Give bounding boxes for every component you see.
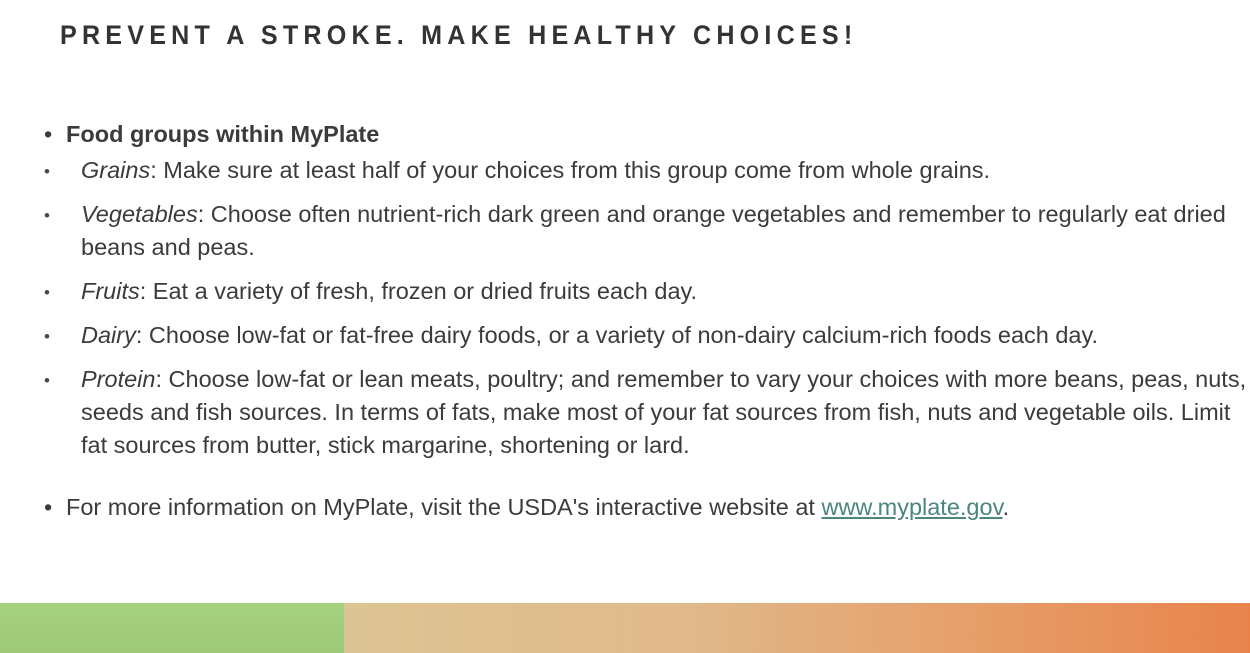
- list-item-text: Food groups within MyPlate: [66, 121, 379, 147]
- bullet-marker-icon: •: [44, 363, 50, 399]
- more-info-text: For more information on MyPlate, visit t…: [66, 494, 821, 520]
- bullet-marker-icon: •: [44, 491, 52, 524]
- footer-band-warm: [344, 603, 1250, 653]
- food-group-term: Vegetables: [81, 201, 198, 227]
- food-group-term: Fruits: [81, 278, 140, 304]
- list-item: • Protein: Choose low-fat or lean meats,…: [0, 363, 1250, 462]
- myplate-link[interactable]: www.myplate.gov: [821, 494, 1002, 520]
- bullet-list: • Food groups within MyPlate • Grains: M…: [0, 118, 1250, 524]
- bullet-marker-icon: •: [44, 154, 50, 190]
- bullet-marker-icon: •: [44, 319, 50, 355]
- list-item: • Food groups within MyPlate: [0, 118, 1250, 151]
- list-item: • Fruits: Eat a variety of fresh, frozen…: [0, 275, 1250, 308]
- content-body: • Food groups within MyPlate • Grains: M…: [0, 118, 1250, 527]
- list-item-text: : Choose often nutrient-rich dark green …: [81, 201, 1226, 260]
- food-group-term: Dairy: [81, 322, 136, 348]
- bullet-marker-icon: •: [44, 118, 52, 151]
- list-item-text: : Choose low-fat or fat-free dairy foods…: [136, 322, 1098, 348]
- list-item-text: : Choose low-fat or lean meats, poultry;…: [81, 366, 1246, 458]
- list-item-text: : Eat a variety of fresh, frozen or drie…: [140, 278, 697, 304]
- bullet-marker-icon: •: [44, 275, 50, 311]
- list-item-text: : Make sure at least half of your choice…: [150, 157, 990, 183]
- bullet-marker-icon: •: [44, 198, 50, 234]
- list-item: • Dairy: Choose low-fat or fat-free dair…: [0, 319, 1250, 352]
- more-info-text-end: .: [1003, 494, 1010, 520]
- footer-band-green: [0, 603, 344, 653]
- list-item: • Grains: Make sure at least half of you…: [0, 154, 1250, 187]
- list-item: • Vegetables: Choose often nutrient-rich…: [0, 198, 1250, 264]
- food-group-term: Grains: [81, 157, 150, 183]
- page-title: PREVENT A STROKE. MAKE HEALTHY CHOICES!: [60, 18, 1130, 52]
- list-item-more-info: •For more information on MyPlate, visit …: [0, 491, 1250, 524]
- slide: PREVENT A STROKE. MAKE HEALTHY CHOICES! …: [0, 0, 1250, 653]
- food-group-term: Protein: [81, 366, 155, 392]
- footer-decoration: [0, 603, 1250, 653]
